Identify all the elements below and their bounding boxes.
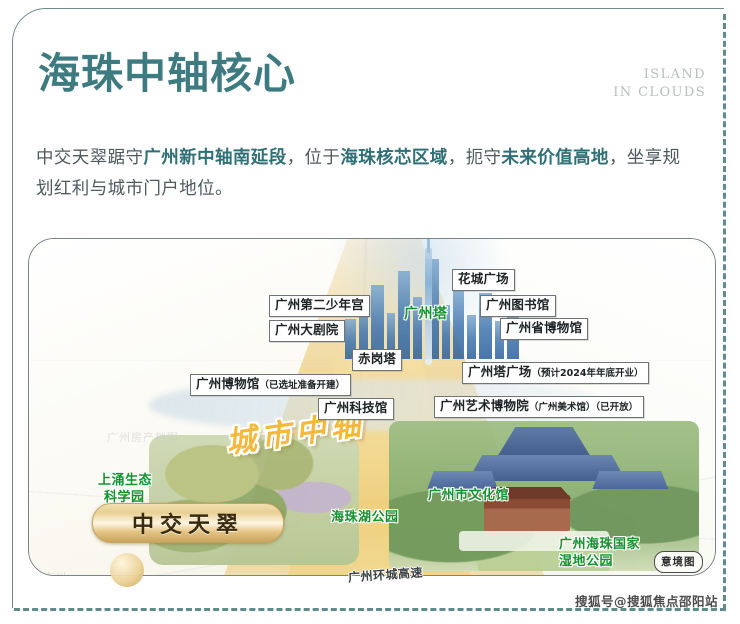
page-title: 海珠中轴核心 xyxy=(38,52,296,96)
brand-english: ISLAND IN CLOUDS xyxy=(613,66,706,101)
green-label-shangyong-eco-science-park-line1: 上涌生态 xyxy=(98,474,152,489)
callout-gz-art-museum-note: （广州美术馆）（已开放） xyxy=(529,402,638,413)
callout-chigang-pagoda-label: 赤岗塔 xyxy=(358,351,396,366)
callout-gz-library-label: 广州图书馆 xyxy=(486,297,550,312)
canton-tower-spire xyxy=(427,238,430,253)
callout-guangdong-museum[interactable]: 广州省博物馆 xyxy=(500,318,588,340)
footer-watermark: 搜狐号@搜狐焦点邵阳站 xyxy=(575,591,718,610)
subtitle-part-2: ，位于 xyxy=(287,148,341,168)
subtitle-emphasis-3: 未来价值高地 xyxy=(501,148,608,168)
callout-guangdong-museum-label: 广州省博物馆 xyxy=(506,320,582,335)
brand-english-line1: ISLAND xyxy=(613,66,706,84)
complex-left-wing xyxy=(421,471,501,489)
green-label-haizhu-wetland-line2: 湿地公园 xyxy=(559,555,613,570)
callout-gz-science-museum[interactable]: 广州科技馆 xyxy=(318,398,394,420)
callout-gz-museum-label: 广州博物馆 xyxy=(196,376,260,391)
badge-decor-dot xyxy=(110,553,144,587)
dashed-guide-right xyxy=(723,14,726,610)
callout-gz-opera-house[interactable]: 广州大剧院 xyxy=(269,320,345,342)
callout-gz-second-childrens-palace-label: 广州第二少年宫 xyxy=(275,297,364,312)
callout-gz-museum[interactable]: 广州博物馆（已选址准备开建） xyxy=(190,374,351,396)
callout-chigang-pagoda[interactable]: 赤岗塔 xyxy=(352,349,402,371)
green-label-canton-tower: 广州塔 xyxy=(404,306,448,322)
green-label-haizhu-lake-park: 海珠湖公园 xyxy=(331,511,399,526)
callout-gz-library[interactable]: 广州图书馆 xyxy=(480,295,556,317)
subtitle-part-3: ，扼守 xyxy=(448,148,502,168)
map-watermark-2: 广州 xyxy=(43,569,67,576)
subtitle-emphasis-1: 广州新中轴南延段 xyxy=(143,148,286,168)
subtitle-paragraph: 中交天翠踞守广州新中轴南延段，位于海珠核芯区域，扼守未来价值高地，坐享规划红利与… xyxy=(36,143,696,204)
project-name-badge-label: 中交天翠 xyxy=(132,507,244,539)
disclaimer-badge: 意境图 xyxy=(654,551,703,573)
subtitle-part-1: 中交天翠踞守 xyxy=(36,148,143,168)
green-label-haizhu-wetland-line1: 广州海珠国家 xyxy=(559,538,640,553)
complex-right-wing xyxy=(589,471,675,489)
callout-gz-second-childrens-palace[interactable]: 广州第二少年宫 xyxy=(269,295,370,317)
callout-gz-art-museum-label: 广州艺术博物院 xyxy=(440,398,529,413)
callout-huacheng-square-label: 花城广场 xyxy=(458,271,509,286)
callout-gz-art-museum[interactable]: 广州艺术博物院（广州美术馆）（已开放） xyxy=(434,396,644,418)
callout-gz-science-museum-label: 广州科技馆 xyxy=(324,400,388,415)
callout-gz-opera-house-label: 广州大剧院 xyxy=(275,322,339,337)
callout-gz-tower-plaza-note: （预计2024年年底开业） xyxy=(532,368,644,379)
callout-huacheng-square[interactable]: 花城广场 xyxy=(452,269,515,291)
project-name-badge[interactable]: 中交天翠 xyxy=(92,503,284,543)
callout-gz-tower-plaza-label: 广州塔广场 xyxy=(468,364,532,379)
callout-gz-museum-note: （已选址准备开建） xyxy=(260,380,346,391)
green-label-gz-cultural-center: 广州市文化馆 xyxy=(428,489,509,504)
subtitle-emphasis-2: 海珠核芯区域 xyxy=(340,148,447,168)
callout-gz-tower-plaza[interactable]: 广州塔广场（预计2024年年底开业） xyxy=(462,362,649,384)
brand-english-line2: IN CLOUDS xyxy=(613,84,706,102)
map-watermark-1: 广州房产档案 xyxy=(107,429,179,445)
